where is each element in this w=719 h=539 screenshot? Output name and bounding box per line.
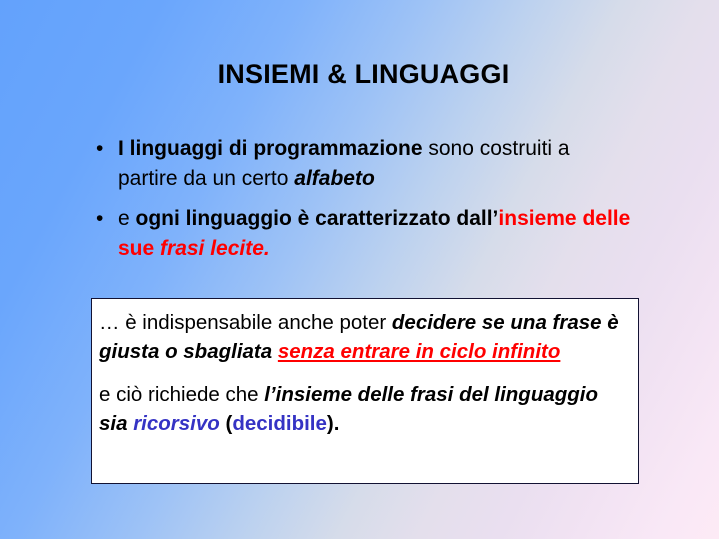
bullet-1-segment-1: I linguaggi di programmazione <box>118 137 423 160</box>
box-p2-segment-6: ). <box>327 412 340 435</box>
bullet-item-1: • I linguaggi di programmazione sono cos… <box>92 134 632 194</box>
bullet-point-icon: • <box>96 134 103 164</box>
bullet-item-2: • e ogni linguaggio è caratterizzato dal… <box>92 204 632 264</box>
bullet-2-segment-1: e <box>118 207 136 230</box>
box-paragraph-2: e ciò richiede che l’insieme delle frasi… <box>99 380 631 438</box>
box-p2-segment-5: decidibile <box>232 412 327 435</box>
box-p2-segment-3: ricorsivo <box>133 412 220 435</box>
box-p1-segment-3: senza entrare in ciclo infinito <box>278 340 561 363</box>
slide-canvas: INSIEMI & LINGUAGGI • I linguaggi di pro… <box>0 0 719 539</box>
bullet-list: • I linguaggi di programmazione sono cos… <box>92 134 632 274</box>
bullet-2-segment-4: frasi lecite. <box>160 237 270 260</box>
box-p1-segment-1: … è indispensabile anche poter <box>99 311 392 334</box>
bullet-1-segment-3: alfabeto <box>294 167 375 190</box>
bullet-item-2-text: e ogni linguaggio è caratterizzato dall’… <box>118 204 632 264</box>
bullet-item-1-text: I linguaggi di programmazione sono costr… <box>118 134 632 194</box>
bullet-2-segment-2: ogni linguaggio è caratterizzato dall’ <box>136 207 499 230</box>
box-paragraph-1: … è indispensabile anche poter decidere … <box>99 308 631 366</box>
box-p2-segment-1: e ciò richiede che <box>99 383 264 406</box>
box-p2-segment-4: ( <box>220 412 233 435</box>
highlight-box: … è indispensabile anche poter decidere … <box>91 298 639 484</box>
slide-title: INSIEMI & LINGUAGGI <box>0 58 719 90</box>
bullet-point-icon: • <box>96 204 103 234</box>
